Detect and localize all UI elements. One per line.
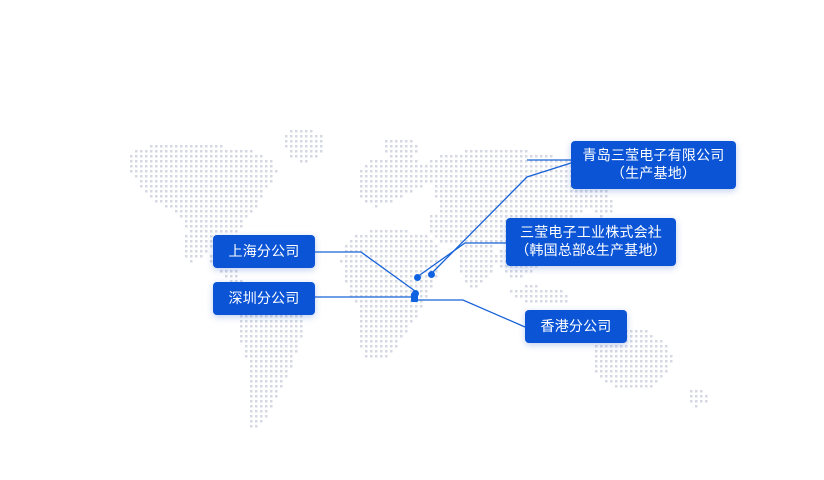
callout-qingdao-line-2: （生产基地） [611, 165, 696, 183]
callout-korea-hq[interactable]: 三莹电子工业株式会社 （韩国总部&生产基地） [506, 218, 676, 266]
callout-qingdao[interactable]: 青岛三莹电子有限公司 （生产基地） [571, 141, 736, 189]
callout-shanghai[interactable]: 上海分公司 [213, 235, 315, 268]
map-marker-korea[interactable] [414, 274, 421, 281]
callout-qingdao-line-1: 青岛三莹电子有限公司 [583, 147, 725, 165]
callout-shenzhen-label: 深圳分公司 [229, 290, 300, 308]
callout-hongkong-label: 香港分公司 [541, 318, 612, 336]
map-marker-qingdao[interactable] [428, 271, 435, 278]
callout-shenzhen[interactable]: 深圳分公司 [213, 282, 315, 315]
map-marker-shenzhen-hongkong[interactable] [411, 293, 418, 302]
callout-korea-line-2: （韩国总部&生产基地） [515, 242, 667, 260]
leader-line-hongkong [416, 300, 525, 327]
leader-lines [0, 0, 824, 480]
diagram-canvas: 青岛三莹电子有限公司 （生产基地） 三莹电子工业株式会社 （韩国总部&生产基地）… [0, 0, 824, 480]
callout-shanghai-label: 上海分公司 [229, 243, 300, 261]
leader-line-shanghai [315, 252, 415, 291]
callout-hongkong[interactable]: 香港分公司 [525, 310, 627, 343]
callout-korea-line-1: 三莹电子工业株式会社 [520, 224, 662, 242]
